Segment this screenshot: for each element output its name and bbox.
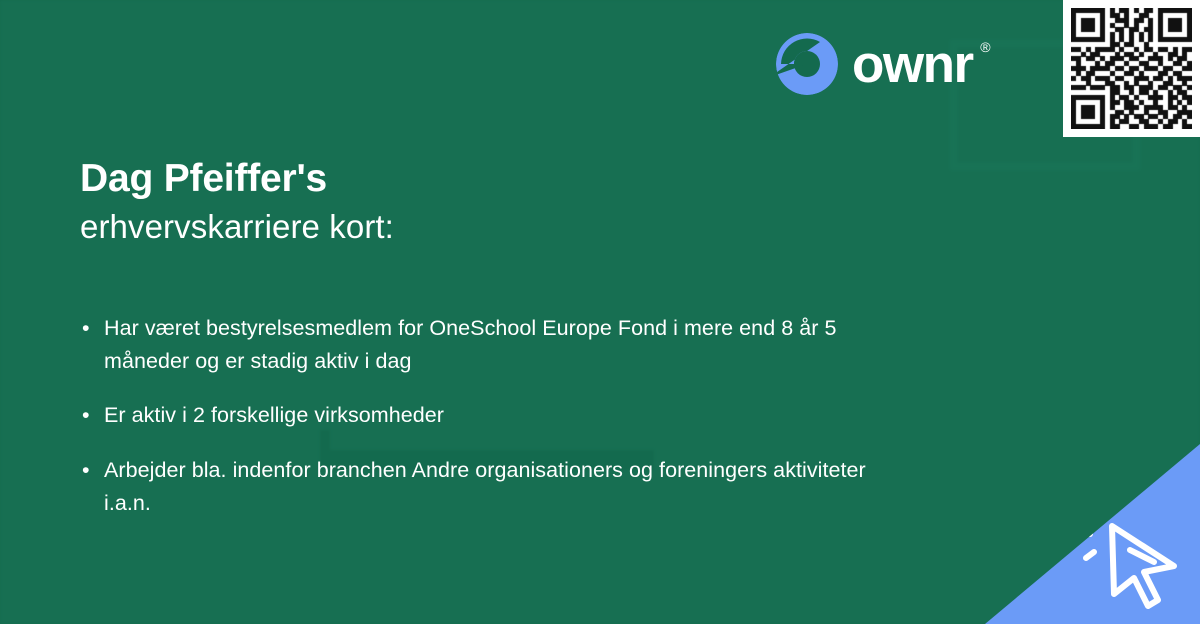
qr-code-icon[interactable] <box>1071 8 1192 129</box>
qr-code-panel[interactable] <box>1063 0 1200 137</box>
page-title: Dag Pfeiffer's erhvervskarriere kort: <box>80 158 840 249</box>
registered-trademark-icon: ® <box>980 40 990 54</box>
person-name: Dag Pfeiffer's <box>80 158 840 200</box>
career-facts-list: Har været bestyrelsesmedlem for OneSchoo… <box>80 312 870 541</box>
ownr-wordmark: ownr ® <box>852 38 973 91</box>
page-subtitle: erhvervskarriere kort: <box>80 206 840 249</box>
business-card-banner: ownr ® Dag Pfeiffer's erhvervskarriere k… <box>0 0 1200 624</box>
ownr-wordmark-text: ownr <box>852 35 973 94</box>
list-item: Har været bestyrelsesmedlem for OneSchoo… <box>80 312 870 377</box>
list-item: Arbejder bla. indenfor branchen Andre or… <box>80 454 870 519</box>
list-item: Er aktiv i 2 forskellige virksomheder <box>80 399 870 432</box>
ownr-logo[interactable]: ownr ® <box>776 33 973 95</box>
ownr-circle-logo-icon <box>776 33 838 95</box>
